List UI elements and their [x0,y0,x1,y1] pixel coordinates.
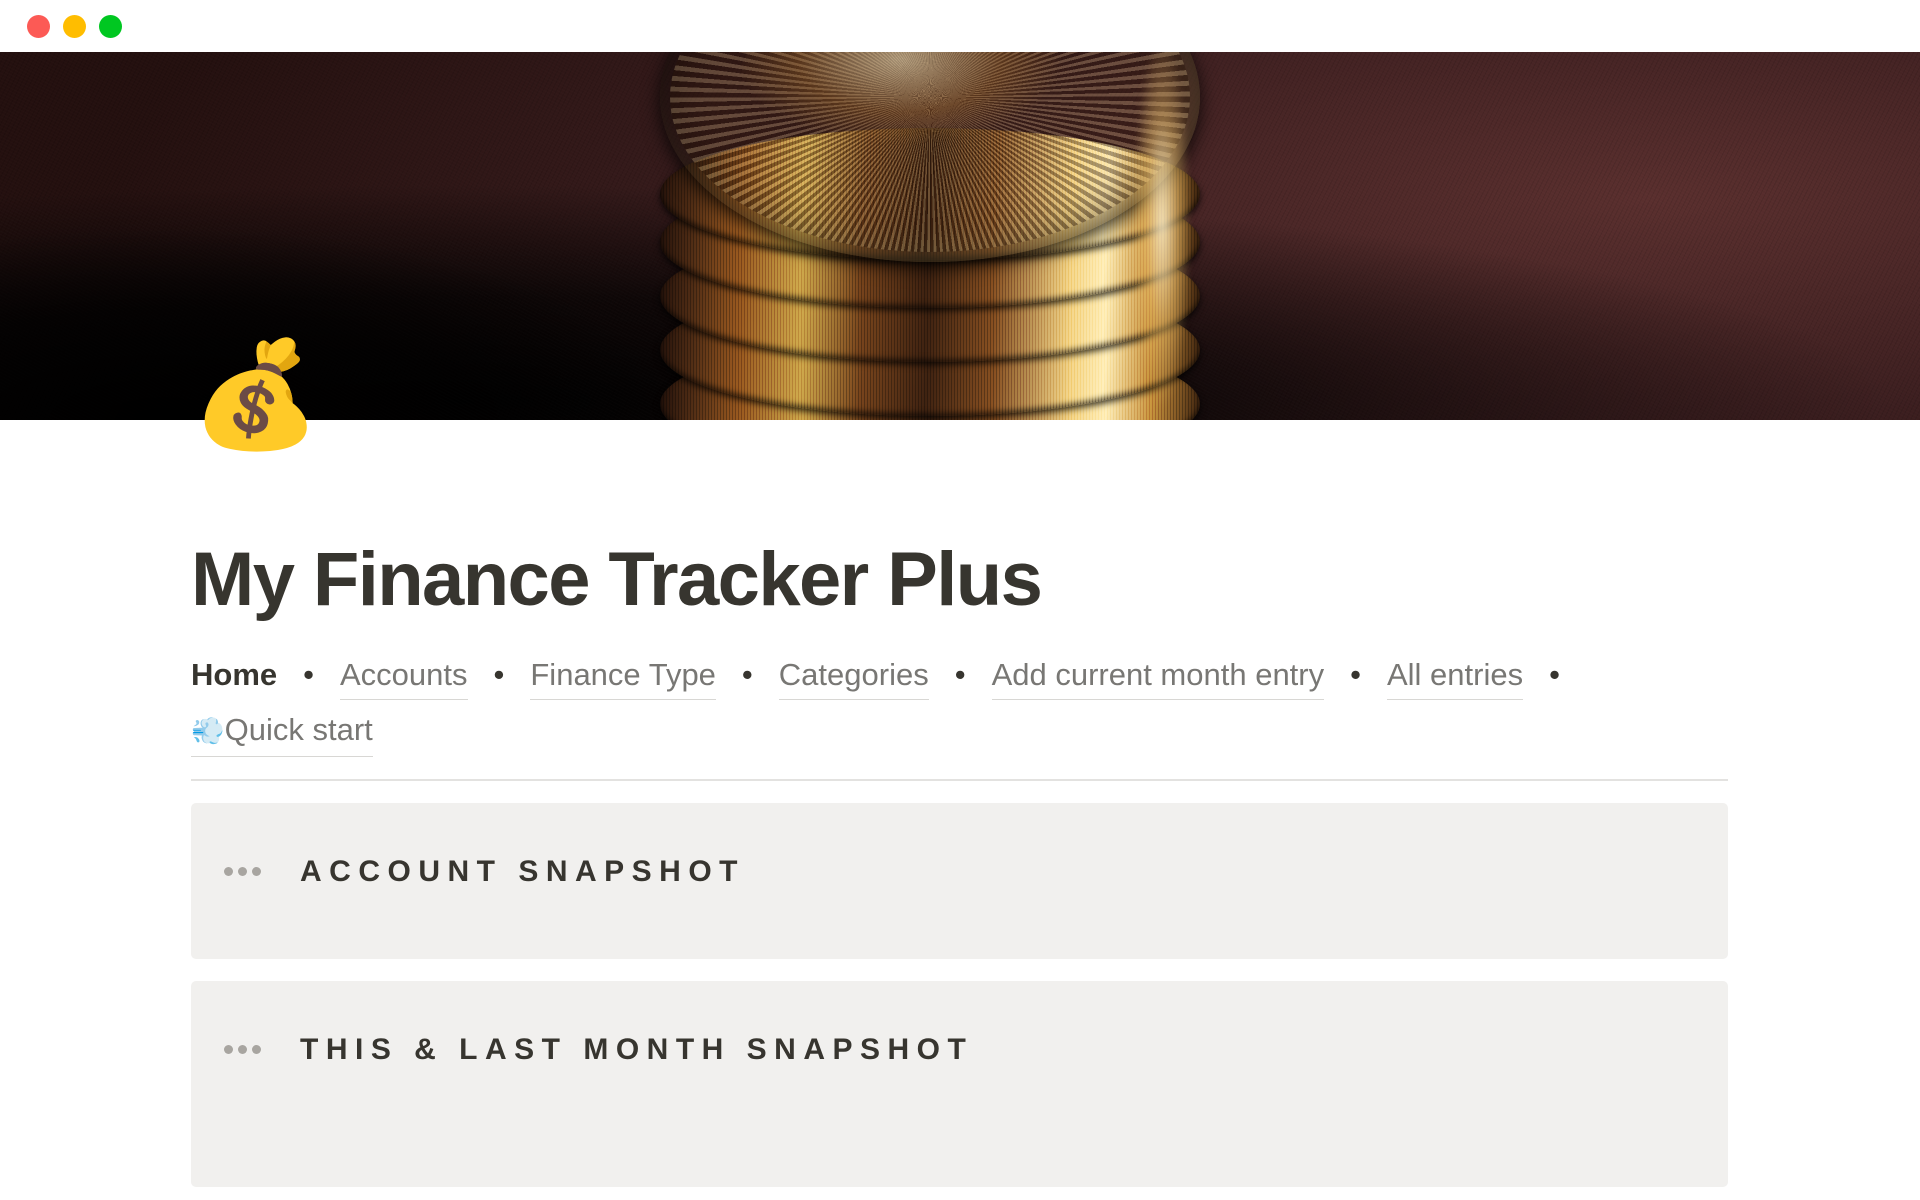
nav-item-accounts[interactable]: Accounts [340,651,468,700]
cover-shadow [0,180,820,420]
content-divider [191,779,1728,781]
page-title: My Finance Tracker Plus [191,540,1728,621]
minimize-button[interactable] [63,15,86,38]
section-header: THIS & LAST MONTH SNAPSHOT [191,1033,1728,1067]
nav-separator: • [468,651,531,699]
section-title: ACCOUNT SNAPSHOT [300,855,745,889]
close-button[interactable] [27,15,50,38]
nav-item-all-entries[interactable]: All entries [1387,651,1523,700]
window-titlebar [0,0,1920,52]
maximize-button[interactable] [99,15,122,38]
nav-separator: • [929,651,992,699]
nav-item-add-current-month-entry[interactable]: Add current month entry [992,651,1325,700]
section-account-snapshot[interactable]: ACCOUNT SNAPSHOT [191,803,1728,959]
nav-separator: • [277,651,340,699]
nav-item-categories[interactable]: Categories [779,651,929,700]
page-body: 💰 My Finance Tracker Plus Home • Account… [0,420,1920,1187]
section-title: THIS & LAST MONTH SNAPSHOT [300,1033,973,1067]
dashing-away-icon: 💨 [191,716,225,747]
drag-handle-dots-icon[interactable] [224,867,261,876]
nav-separator: • [1523,651,1586,699]
drag-handle-dots-icon[interactable] [224,1045,261,1054]
nav-item-finance-type[interactable]: Finance Type [530,651,716,700]
section-this-and-last-month-snapshot[interactable]: THIS & LAST MONTH SNAPSHOT [191,981,1728,1187]
page-icon-money-bag-icon[interactable]: 💰 [191,342,321,446]
section-header: ACCOUNT SNAPSHOT [191,855,1728,889]
nav-item-home[interactable]: Home [191,651,277,699]
page-content: My Finance Tracker Plus Home • Accounts … [191,420,1728,1187]
nav-separator: • [716,651,779,699]
nav-item-quick-start-label: Quick start [225,712,373,747]
nav-item-quick-start[interactable]: 💨Quick start [191,706,373,757]
page-nav: Home • Accounts • Finance Type • Categor… [191,651,1711,757]
nav-separator: • [1324,651,1387,699]
